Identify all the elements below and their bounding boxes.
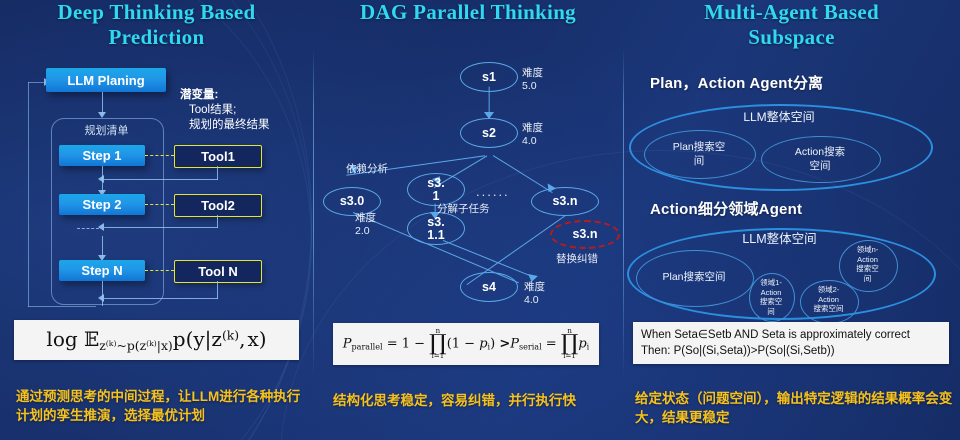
tool-1-box[interactable]: Tool1 <box>174 145 262 168</box>
column-title-dag: DAG Parallel Thinking <box>313 0 623 25</box>
tool-n-box[interactable]: Tool N <box>174 260 262 283</box>
dag-node-s311-label: s3. 1.1 <box>427 216 444 242</box>
step-n-box[interactable]: Step N <box>59 260 145 281</box>
tool2-return-arrow <box>98 223 104 231</box>
tool-2-box[interactable]: Tool2 <box>174 194 262 217</box>
red-note-replace-correct: 替换纠错 <box>556 253 598 266</box>
multi-agent-formula: When Seta∈Setb AND Seta is approximately… <box>633 322 949 364</box>
llm-planing-label: LLM Planing <box>67 73 144 88</box>
edge-label-subtask-decomposition: 分解子任务 <box>437 203 490 216</box>
dag-ellipsis: ...... <box>476 184 510 199</box>
multi-agent-formula-line1: When Seta∈Setb AND Seta is approximately… <box>641 327 910 343</box>
section2-plan-label: Plan搜索空间 <box>636 270 752 284</box>
step-2-box[interactable]: Step 2 <box>59 194 145 215</box>
latent-variable-line2: 规划的最终结果 <box>180 118 310 133</box>
dag-formula-text: Pparallel = 1 − n ∏ i=1 (1 − pi) >Pseria… <box>343 328 590 360</box>
dag-node-s4[interactable]: s4 <box>460 272 518 302</box>
tool-2-label: Tool2 <box>201 198 235 213</box>
section2-domainn-label: 领域n- Action 搜索空 间 <box>839 245 896 283</box>
tool1-return-horizontal <box>104 179 218 180</box>
step-ellipsis-dots <box>77 228 99 229</box>
dag-node-s3n-replacement-label: s3.n <box>572 228 597 241</box>
tool1-return-vertical <box>217 166 218 180</box>
section2-domain2-label: 领域2- Action 搜索空间 <box>800 285 857 314</box>
difficulty-s1-label: 难度 <box>522 67 543 80</box>
plan-list-label: 规划清单 <box>51 124 162 138</box>
difficulty-s30: 难度 2.0 <box>355 212 376 238</box>
dag-node-s1[interactable]: s1 <box>460 62 518 92</box>
column-title-deep-thinking: Deep Thinking Based Prediction <box>0 0 313 50</box>
step2-tool2-connector <box>145 204 174 205</box>
step1-tool1-connector <box>145 155 174 156</box>
planner-down-line <box>102 92 103 114</box>
step-n-label: Step N <box>81 263 122 278</box>
ma-title-line-1: Multi-Agent Based <box>623 0 960 25</box>
dag-node-s2-label: s2 <box>482 127 496 140</box>
column-title-multi-agent: Multi-Agent Based Subspace <box>623 0 960 50</box>
feedback-rail-bottom <box>28 306 96 307</box>
latent-variable-line1: Tool结果; <box>180 103 310 118</box>
edge-label-dependency-analysis: 依赖分析 <box>346 163 388 176</box>
multi-agent-formula-line2: Then: P(So|(Si,Seta))>P(So|(Si,Setb)) <box>641 343 835 359</box>
ma-title-line-2: Subspace <box>623 25 960 50</box>
dag-node-s2[interactable]: s2 <box>460 118 518 148</box>
step-2-label: Step 2 <box>82 197 121 212</box>
deep-thinking-formula: log 𝔼z(k)~p(z(k)|x)p(y|z(k), x) <box>14 320 299 360</box>
section1-heading: Plan，Action Agent分离 <box>650 72 823 93</box>
dag-caption: 结构化思考稳定，容易纠错，并行执行快 <box>333 391 623 410</box>
tool-1-label: Tool1 <box>201 149 235 164</box>
deep-thinking-caption: 通过预测思考的中间过程，让LLM进行各种执行计划的孪生推演，选择最优计划 <box>16 387 306 425</box>
step2-stepN-line <box>102 236 103 257</box>
column-deep-thinking: Deep Thinking Based Prediction LLM Plani… <box>0 0 313 440</box>
tooln-return-vertical <box>217 281 218 299</box>
section2-heading: Action细分领域Agent <box>650 198 802 219</box>
difficulty-s4-value: 4.0 <box>524 294 545 307</box>
dag-node-s3n-replacement[interactable]: s3.n <box>550 220 620 249</box>
difficulty-s1-value: 5.0 <box>522 80 543 93</box>
title-line-2: Prediction <box>0 25 313 50</box>
dag-node-s4-label: s4 <box>482 281 496 294</box>
dag-node-s3n[interactable]: s3.n <box>531 187 599 216</box>
difficulty-s30-label: 难度 <box>355 212 376 225</box>
dag-node-s31-label: s3. 1 <box>427 177 444 203</box>
difficulty-s4-label: 难度 <box>524 281 545 294</box>
multi-agent-caption: 给定状态（问题空间），输出特定逻辑的结果概率会变大，结果更稳定 <box>635 389 955 427</box>
section1-plan-label: Plan搜索空 间 <box>644 140 754 168</box>
difficulty-s1: 难度 5.0 <box>522 67 543 93</box>
latent-variable-heading: 潜变量: <box>180 89 218 101</box>
dag-node-s31[interactable]: s3. 1 <box>407 173 465 206</box>
column-dag-parallel: DAG Parallel Thinking s1 s2 <box>313 0 623 440</box>
difficulty-s2-value: 4.0 <box>522 135 543 148</box>
tooln-return-horizontal <box>104 298 218 299</box>
tool-n-label: Tool N <box>198 264 237 279</box>
dag-node-s311[interactable]: s3. 1.1 <box>407 212 465 245</box>
column-multi-agent: Multi-Agent Based Subspace Plan，Action A… <box>623 0 960 440</box>
slide-canvas: Deep Thinking Based Prediction LLM Plani… <box>0 0 960 440</box>
dag-node-s30-label: s3.0 <box>340 195 364 208</box>
llm-planing-box[interactable]: LLM Planing <box>46 68 166 92</box>
step-1-label: Step 1 <box>82 148 121 163</box>
difficulty-s30-value: 2.0 <box>355 225 376 238</box>
stepn-down-line <box>102 281 103 306</box>
stepn-tooln-connector <box>145 270 174 271</box>
difficulty-s2: 难度 4.0 <box>522 122 543 148</box>
section1-action-label: Action搜索 空间 <box>761 145 879 173</box>
dag-title-line-1: DAG Parallel Thinking <box>313 0 623 25</box>
dag-node-s1-label: s1 <box>482 71 496 84</box>
latent-variable-annotation: 潜变量: Tool结果; 规划的最终结果 <box>180 88 310 133</box>
feedback-rail-vertical <box>28 82 29 307</box>
section1-outer-label: LLM整体空间 <box>629 110 929 124</box>
section2-outer-label: LLM整体空间 <box>627 232 932 246</box>
difficulty-s4: 难度 4.0 <box>524 281 545 307</box>
dag-formula: Pparallel = 1 − n ∏ i=1 (1 − pi) >Pseria… <box>333 323 599 365</box>
step-1-box[interactable]: Step 1 <box>59 145 145 166</box>
step1-step2-line <box>102 166 103 192</box>
deep-thinking-formula-text: log 𝔼z(k)~p(z(k)|x)p(y|z(k), x) <box>46 327 266 352</box>
tool2-return-horizontal <box>104 227 218 228</box>
difficulty-s2-label: 难度 <box>522 122 543 135</box>
dag-node-s3n-label: s3.n <box>552 195 577 208</box>
section2-domain1-label: 领域1- Action 搜索空 间 <box>749 278 793 316</box>
title-line-1: Deep Thinking Based <box>0 0 313 25</box>
